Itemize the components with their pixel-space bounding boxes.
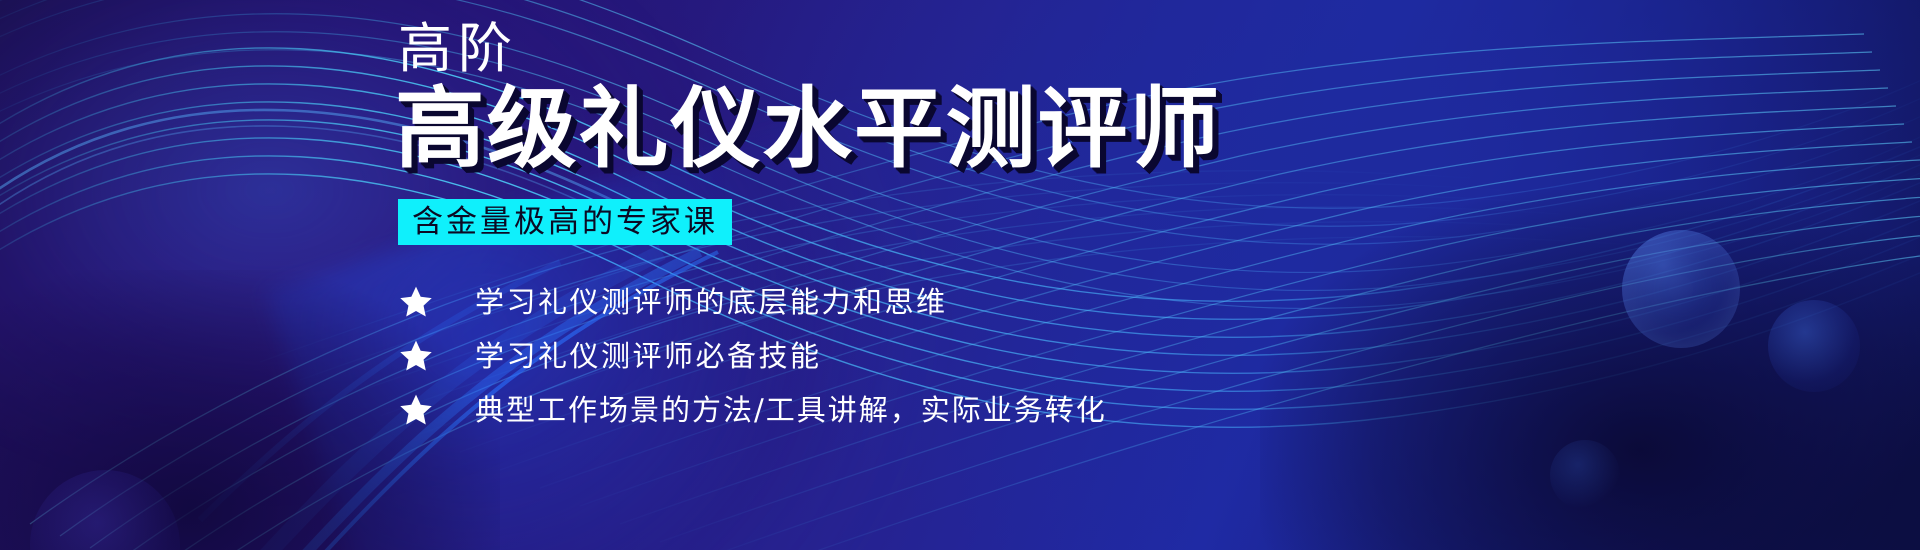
highlight-badge: 含金量极高的专家课 [398,199,732,245]
decorative-circle-1 [1622,230,1740,348]
highlight-badge-label: 含金量极高的专家课 [412,207,718,238]
list-item-label: 学习礼仪测评师的底层能力和思维 [475,288,948,317]
star-icon [399,339,433,373]
banner-content: 高阶 高级礼仪水平测评师 含金量极高的专家课 学习礼仪测评师的底层能力和思维 学… [395,0,1495,550]
decorative-circle-3 [30,470,180,550]
star-icon [399,285,433,319]
list-item-label: 典型工作场景的方法/工具讲解，实际业务转化 [475,396,1107,425]
feature-list: 学习礼仪测评师的底层能力和思维 学习礼仪测评师必备技能 典型工作场景的方法/工具… [395,276,1395,436]
eyebrow-label: 高阶 [398,22,518,76]
course-banner: 高阶 高级礼仪水平测评师 含金量极高的专家课 学习礼仪测评师的底层能力和思维 学… [0,0,1920,550]
page-title: 高级礼仪水平测评师 [395,82,1221,175]
decorative-circle-4 [1550,440,1620,510]
list-item-label: 学习礼仪测评师必备技能 [475,342,822,371]
decorative-circle-2 [1768,300,1860,392]
list-item: 典型工作场景的方法/工具讲解，实际业务转化 [395,384,1395,436]
list-item: 学习礼仪测评师的底层能力和思维 [395,276,1395,328]
star-icon [399,393,433,427]
list-item: 学习礼仪测评师必备技能 [395,330,1395,382]
